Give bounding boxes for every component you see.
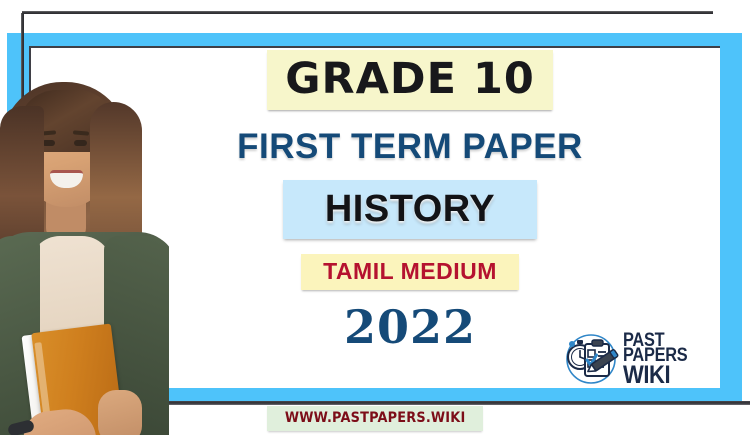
term-label: FIRST TERM PAPER bbox=[237, 127, 583, 166]
term-row: FIRST TERM PAPER bbox=[150, 129, 670, 164]
subject-label: HISTORY bbox=[325, 188, 495, 230]
grade-label: GRADE 10 bbox=[285, 54, 535, 104]
footer-url-band[interactable]: WWW.PASTPAPERS.WIKI bbox=[267, 406, 483, 431]
stopwatch-clipboard-pencil-icon bbox=[562, 332, 620, 386]
poster-text-stack: GRADE 10 FIRST TERM PAPER HISTORY TAMIL … bbox=[150, 46, 670, 346]
grade-row: GRADE 10 bbox=[150, 46, 670, 110]
term-band: FIRST TERM PAPER bbox=[237, 129, 583, 164]
logo-line-past-papers: PAST PAPERS bbox=[623, 333, 718, 364]
frame-inner-top-edge bbox=[22, 11, 713, 14]
subject-band: HISTORY bbox=[283, 180, 537, 239]
subject-row: HISTORY bbox=[150, 164, 670, 239]
student-eye-right bbox=[74, 140, 87, 146]
grade-band: GRADE 10 bbox=[267, 50, 553, 110]
year-band: 2022 bbox=[344, 304, 476, 350]
footer-url-row: WWW.PASTPAPERS.WIKI bbox=[0, 406, 750, 431]
logo-wordmark: PAST PAPERS WIKI bbox=[623, 333, 734, 386]
medium-row: TAMIL MEDIUM bbox=[150, 239, 670, 290]
past-papers-wiki-logo[interactable]: PAST PAPERS WIKI bbox=[562, 330, 734, 388]
medium-label: TAMIL MEDIUM bbox=[323, 258, 497, 284]
logo-line-wiki: WIKI bbox=[623, 365, 721, 386]
footer-url-label: WWW.PASTPAPERS.WIKI bbox=[285, 410, 466, 426]
student-photo bbox=[0, 60, 169, 435]
poster-canvas: GRADE 10 FIRST TERM PAPER HISTORY TAMIL … bbox=[0, 0, 750, 435]
medium-band: TAMIL MEDIUM bbox=[301, 254, 519, 290]
year-label: 2022 bbox=[344, 300, 476, 354]
